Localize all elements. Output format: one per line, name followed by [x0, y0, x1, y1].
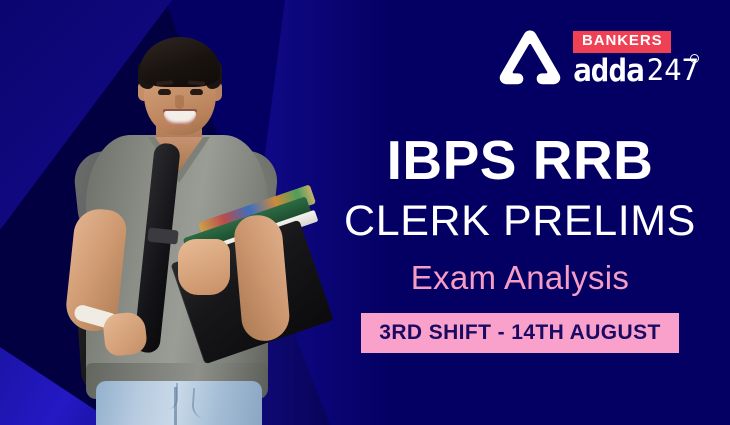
page-subtitle: CLERK PRELIMS [340, 196, 700, 247]
backpack-strap-clip [147, 227, 178, 244]
left-hand [102, 311, 148, 357]
adda247-logo[interactable]: BANKERS adda 247 [497, 28, 699, 90]
bankers-badge: BANKERS [573, 31, 671, 53]
right-eye [190, 89, 203, 95]
hair [140, 37, 220, 87]
jeans-fly [156, 383, 178, 409]
left-eye [158, 89, 171, 95]
logo-text-block: BANKERS adda 247 [573, 31, 699, 87]
page-title: IBPS RRB [340, 132, 700, 190]
right-hand [178, 239, 230, 295]
adda-word: adda [573, 56, 644, 87]
shift-date-badge: 3RD SHIFT - 14TH AUGUST [361, 313, 678, 353]
headline-block: IBPS RRB CLERK PRELIMS Exam Analysis 3RD… [340, 132, 700, 353]
adda247-dot-icon [690, 54, 699, 63]
adda247-triangle-logo-icon [497, 28, 563, 90]
nose [175, 95, 184, 109]
student-photo [52, 25, 322, 425]
adda247-wordmark: adda 247 [573, 56, 699, 87]
jeans [96, 381, 262, 425]
page-tertiary-title: Exam Analysis [340, 258, 700, 298]
exam-analysis-poster: BANKERS adda 247 IBPS RRB CLERK PRELIMS … [0, 0, 730, 425]
jeans-pocket [191, 388, 221, 420]
